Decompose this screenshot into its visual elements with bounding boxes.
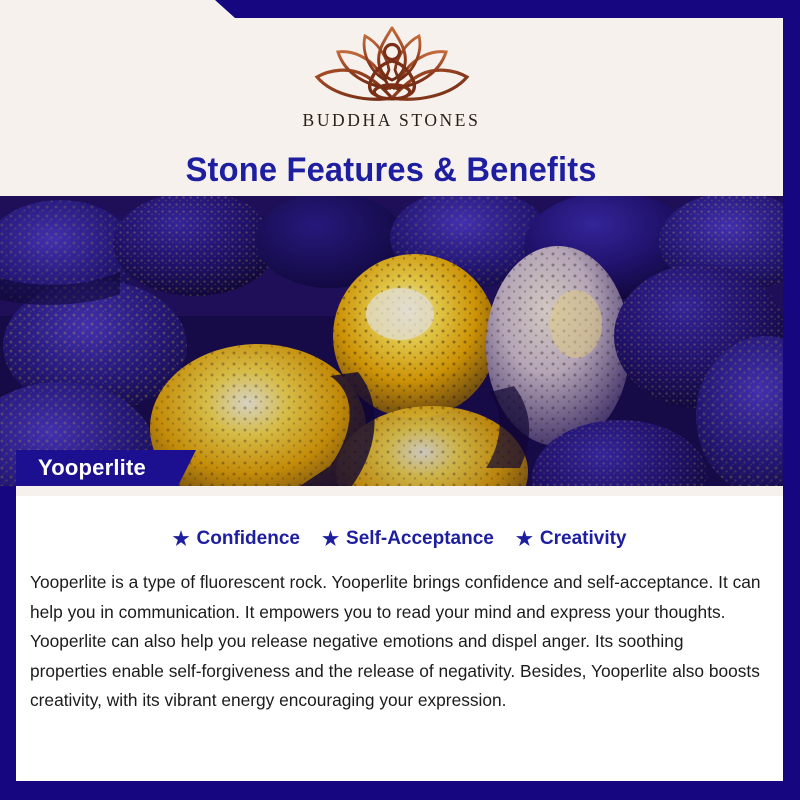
top-navy-band bbox=[215, 0, 800, 18]
content-panel: ★ Confidence ★ Self-Acceptance ★ Creativ… bbox=[16, 486, 783, 781]
poster-root: BUDDHA STONES Stone Features & Benefits bbox=[0, 0, 800, 800]
benefit-keywords: ★ Confidence ★ Self-Acceptance ★ Creativ… bbox=[16, 528, 783, 550]
star-icon: ★ bbox=[322, 530, 339, 549]
brand-logo: BUDDHA STONES bbox=[0, 22, 783, 142]
lotus-meditation-icon bbox=[297, 22, 487, 108]
keyword-label: Confidence bbox=[197, 528, 300, 550]
right-navy-border bbox=[783, 0, 800, 800]
star-icon: ★ bbox=[516, 530, 533, 549]
stone-name-label: Yooperlite bbox=[38, 455, 146, 481]
keyword-confidence: ★ Confidence bbox=[172, 528, 300, 550]
hero-photo bbox=[0, 196, 783, 486]
bottom-navy-band bbox=[0, 781, 612, 800]
stone-description: Yooperlite is a type of fluorescent rock… bbox=[30, 568, 763, 716]
keyword-creativity: ★ Creativity bbox=[516, 528, 627, 550]
panel-top-strip bbox=[16, 486, 783, 496]
keyword-self-acceptance: ★ Self-Acceptance bbox=[322, 528, 494, 550]
page-title: Stone Features & Benefits bbox=[0, 148, 783, 192]
brand-name: BUDDHA STONES bbox=[303, 110, 481, 131]
keyword-label: Self-Acceptance bbox=[346, 528, 494, 550]
star-icon: ★ bbox=[172, 530, 189, 549]
stone-name-tag: Yooperlite bbox=[16, 450, 196, 486]
page-title-text: Stone Features & Benefits bbox=[186, 151, 597, 190]
keyword-label: Creativity bbox=[540, 528, 627, 550]
